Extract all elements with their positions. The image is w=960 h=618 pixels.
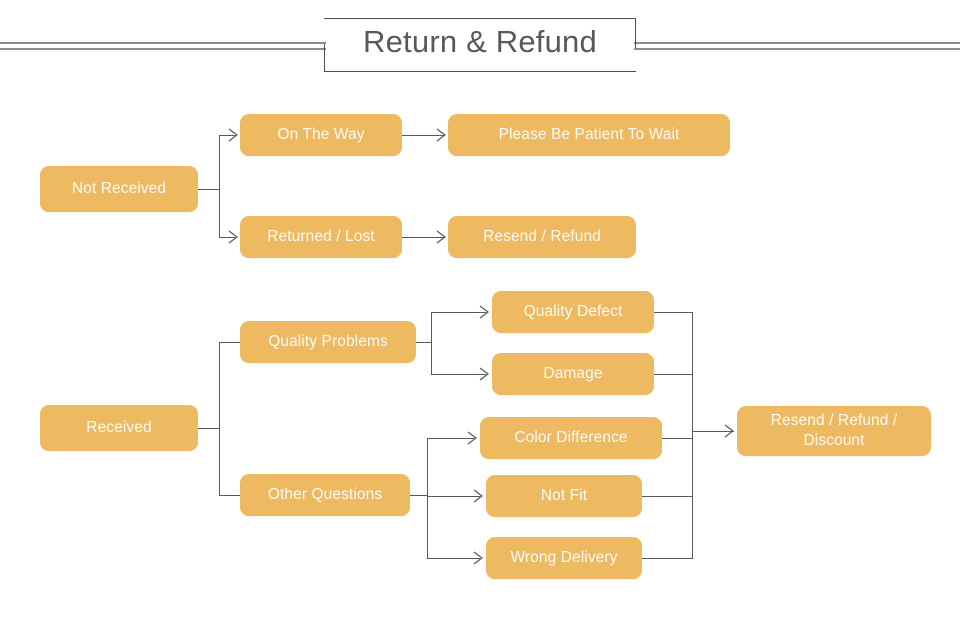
- arrowhead-resend-refund-discount: [724, 424, 735, 438]
- node-not-fit[interactable]: Not Fit: [486, 475, 642, 517]
- header-rule-right-top: [634, 42, 960, 44]
- flowchart-canvas: Return & Refund: [0, 0, 960, 618]
- node-label: Returned / Lost: [267, 227, 374, 246]
- header-bracket-bottom: [324, 71, 636, 72]
- node-label: Wrong Delivery: [510, 548, 617, 567]
- header-bracket-left-down: [324, 44, 325, 72]
- connector-not-received-bus: [219, 135, 220, 238]
- merge-bus: [692, 312, 693, 559]
- header-bracket-right-down: [635, 18, 636, 48]
- arrowhead-on-the-way: [228, 128, 239, 142]
- node-label: Other Questions: [268, 485, 382, 504]
- merge-from-damage: [654, 374, 693, 375]
- connector-received-stem: [198, 428, 220, 429]
- connector-quality-problems-bus: [431, 312, 432, 375]
- node-other-questions[interactable]: Other Questions: [240, 474, 410, 516]
- node-not-received[interactable]: Not Received: [40, 166, 198, 212]
- node-wrong-delivery[interactable]: Wrong Delivery: [486, 537, 642, 579]
- merge-from-wrong-delivery: [642, 558, 693, 559]
- connector-to-quality-defect: [431, 312, 486, 313]
- node-quality-defect[interactable]: Quality Defect: [492, 291, 654, 333]
- merge-from-color-difference: [662, 438, 693, 439]
- connector-to-other-questions: [219, 495, 241, 496]
- node-label: Please Be Patient To Wait: [499, 125, 680, 144]
- node-label-line-2: Discount: [803, 431, 864, 451]
- connector-to-quality-problems: [219, 342, 241, 343]
- node-please-be-patient-to-wait[interactable]: Please Be Patient To Wait: [448, 114, 730, 156]
- node-damage[interactable]: Damage: [492, 353, 654, 395]
- header-rule-left-bottom: [0, 48, 326, 50]
- merge-from-not-fit: [642, 496, 693, 497]
- node-received[interactable]: Received: [40, 405, 198, 451]
- node-label: Resend / Refund: [483, 227, 601, 246]
- node-color-difference[interactable]: Color Difference: [480, 417, 662, 459]
- arrowhead-resend-refund: [436, 230, 447, 244]
- arrowhead-quality-defect: [479, 305, 490, 319]
- connector-other-questions-bus: [427, 438, 428, 559]
- node-label: Received: [86, 418, 151, 437]
- node-label: Not Fit: [541, 486, 587, 505]
- connector-not-received-stem: [198, 189, 220, 190]
- arrowhead-not-fit: [473, 489, 484, 503]
- node-returned-lost[interactable]: Returned / Lost: [240, 216, 402, 258]
- header-rule-right-bottom: [634, 48, 960, 50]
- arrowhead-damage: [479, 367, 490, 381]
- node-label: On The Way: [277, 125, 364, 144]
- node-resend-refund-discount[interactable]: Resend / Refund / Discount: [737, 406, 931, 456]
- merge-from-quality-defect: [654, 312, 693, 313]
- arrowhead-wrong-delivery: [473, 551, 484, 565]
- node-label: Quality Defect: [524, 302, 623, 321]
- connector-quality-problems-stem: [416, 342, 432, 343]
- header-bracket-top: [324, 18, 636, 19]
- node-label: Not Received: [72, 179, 166, 198]
- node-label-line-1: Resend / Refund /: [771, 411, 898, 431]
- page-header: Return & Refund: [0, 0, 960, 90]
- node-label: Color Difference: [514, 428, 627, 447]
- node-label: Quality Problems: [268, 332, 388, 351]
- connector-to-damage: [431, 374, 486, 375]
- node-resend-refund[interactable]: Resend / Refund: [448, 216, 636, 258]
- arrowhead-returned-lost: [228, 230, 239, 244]
- arrowhead-color-difference: [467, 431, 478, 445]
- arrowhead-please-be-patient: [436, 128, 447, 142]
- page-title: Return & Refund: [330, 20, 630, 64]
- header-rule-left-top: [0, 42, 326, 44]
- node-quality-problems[interactable]: Quality Problems: [240, 321, 416, 363]
- connector-received-bus: [219, 342, 220, 495]
- node-on-the-way[interactable]: On The Way: [240, 114, 402, 156]
- connector-other-questions-stem: [410, 495, 428, 496]
- node-label: Damage: [543, 364, 602, 383]
